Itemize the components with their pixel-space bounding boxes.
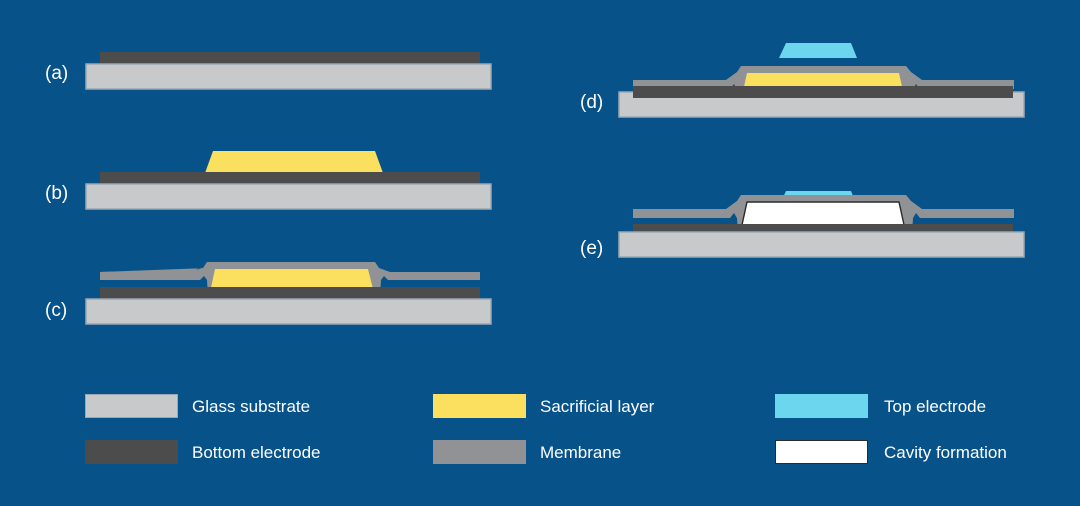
panel-d (619, 43, 1024, 117)
legend-label-cavity-formation: Cavity formation (884, 443, 1007, 463)
legend-swatch-bottom-electrode (85, 440, 178, 464)
legend-swatch-sacrificial-layer (433, 394, 526, 418)
panel-d-bottom-electrode-top (633, 86, 1013, 98)
panel-label-a: (a) (45, 63, 68, 85)
legend-swatch-cavity-formation (775, 440, 868, 464)
panel-label-e: (e) (580, 238, 603, 260)
panel-c-bottom-electrode (100, 287, 480, 299)
panel-e-glass-substrate (619, 232, 1024, 257)
panel-b-sacrificial-layer (205, 151, 383, 173)
panel-label-c: (c) (45, 300, 67, 322)
legend-label-membrane: Membrane (540, 443, 621, 463)
process-flow-diagram: (a) (b) (c) (d) (e) Glass substrate Bott… (0, 0, 1080, 506)
panel-b-bottom-electrode (100, 172, 480, 184)
legend-swatch-top-electrode (775, 394, 868, 418)
panel-label-d: (d) (580, 92, 603, 114)
panel-b-glass-substrate (86, 184, 491, 209)
panel-label-b: (b) (45, 183, 68, 205)
legend-label-top-electrode: Top electrode (884, 397, 986, 417)
diagram-canvas (0, 0, 1080, 506)
panel-a-glass-substrate (86, 64, 491, 89)
panel-c-glass-substrate (86, 299, 491, 324)
panel-b (86, 151, 491, 209)
panel-a (86, 52, 491, 89)
legend-label-sacrificial-layer: Sacrificial layer (540, 397, 654, 417)
panel-c-membrane-outline (100, 268, 207, 272)
panel-c (86, 262, 491, 324)
panel-d-top-electrode (779, 43, 857, 58)
legend-label-glass-substrate: Glass substrate (192, 397, 310, 417)
panel-e (619, 191, 1024, 257)
panel-a-bottom-electrode (100, 52, 480, 64)
legend-swatch-glass-substrate (85, 394, 178, 418)
legend-swatch-membrane (433, 440, 526, 464)
legend-label-bottom-electrode: Bottom electrode (192, 443, 321, 463)
